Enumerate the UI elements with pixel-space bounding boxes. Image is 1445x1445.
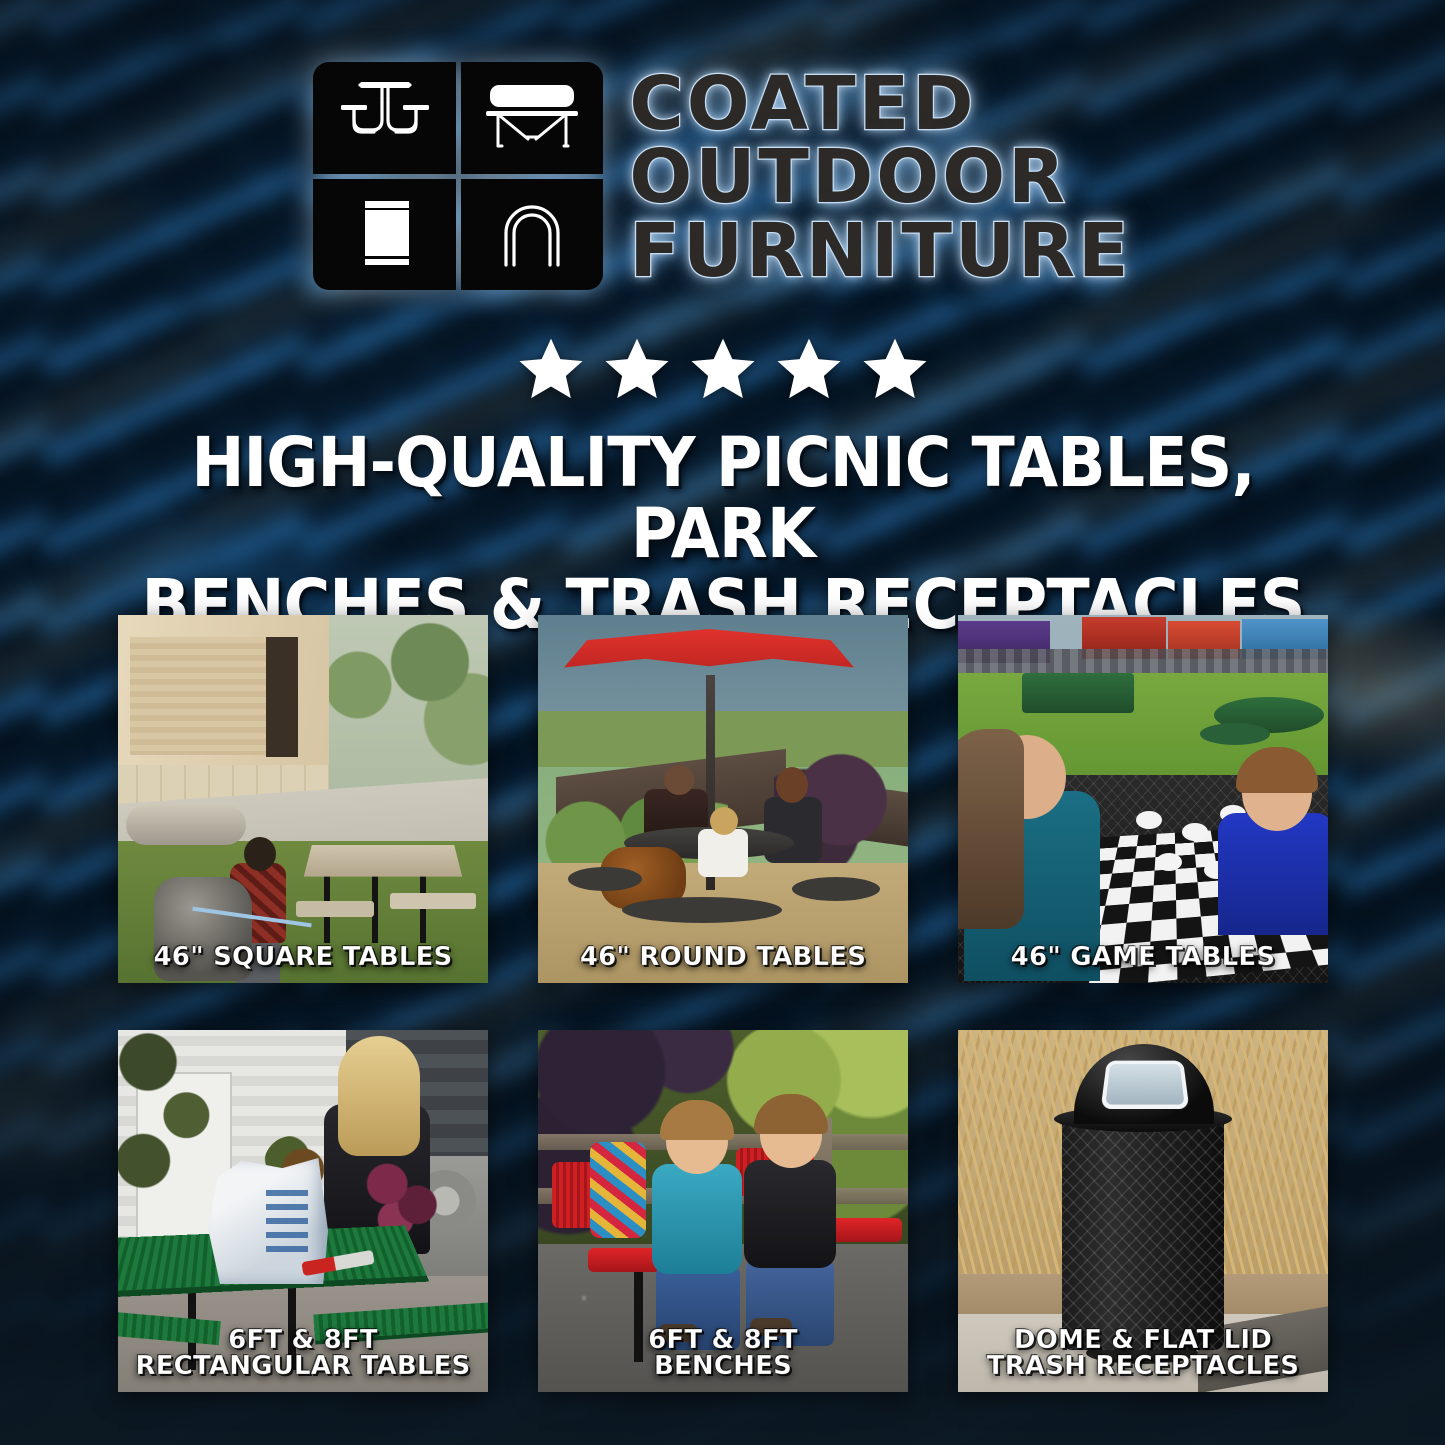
star-icon [773,334,845,404]
caption-line-1: 6FT & 8FT [124,1327,482,1354]
dome-lid-icon [461,179,604,291]
caption-line-2: RECTANGULAR TABLES [124,1353,482,1380]
brand-name-line-3: FURNITURE [629,216,1131,287]
product-tile-trash-receptacles[interactable]: DOME & FLAT LID TRASH RECEPTACLES [958,1030,1328,1392]
brand-wordmark: COATED OUTDOOR FURNITURE [629,65,1131,286]
product-photo-round-tables [538,615,908,983]
product-photo-square-tables [118,615,488,983]
caption-line-1: 6FT & 8FT [544,1327,902,1354]
product-tile-rectangular-tables[interactable]: 6FT & 8FT RECTANGULAR TABLES [118,1030,488,1392]
caption-line-1: 46" GAME TABLES [964,944,1322,971]
star-icon [601,334,673,404]
headline-line-1: HIGH-QUALITY PICNIC TABLES, PARK [129,428,1316,570]
product-tile-benches[interactable]: 6FT & 8FT BENCHES [538,1030,908,1392]
product-caption-round-tables: 46" ROUND TABLES [538,944,908,971]
product-caption-game-tables: 46" GAME TABLES [958,944,1328,971]
headline: HIGH-QUALITY PICNIC TABLES, PARK BENCHES… [78,428,1368,641]
product-tile-round-tables[interactable]: 46" ROUND TABLES [538,615,908,983]
product-photo-game-tables [958,615,1328,983]
logo-icon-grid [313,62,603,290]
product-grid: 46" SQUARE TABLES [118,615,1328,1392]
caption-line-1: DOME & FLAT LID [964,1327,1322,1354]
product-tile-square-tables[interactable]: 46" SQUARE TABLES [118,615,488,983]
caption-line-2: BENCHES [544,1353,902,1380]
star-icon [687,334,759,404]
star-icon [859,334,931,404]
caption-line-2: TRASH RECEPTACLES [964,1353,1322,1380]
bench-side-icon [461,62,604,174]
brand-logo: COATED OUTDOOR FURNITURE [0,62,1445,290]
trash-receptacle-icon [313,179,456,291]
star-rating [0,334,1445,404]
caption-line-1: 46" SQUARE TABLES [124,944,482,971]
product-caption-rectangular-tables: 6FT & 8FT RECTANGULAR TABLES [118,1327,488,1380]
picnic-table-front-icon [313,62,456,174]
brand-name-line-1: COATED [629,69,1131,140]
product-caption-square-tables: 46" SQUARE TABLES [118,944,488,971]
brand-name-line-2: OUTDOOR [629,142,1131,213]
product-tile-game-tables[interactable]: 46" GAME TABLES [958,615,1328,983]
advertisement-poster: COATED OUTDOOR FURNITURE HIGH-QUALITY PI… [0,0,1445,1445]
product-caption-trash-receptacles: DOME & FLAT LID TRASH RECEPTACLES [958,1327,1328,1380]
star-icon [515,334,587,404]
caption-line-1: 46" ROUND TABLES [544,944,902,971]
product-caption-benches: 6FT & 8FT BENCHES [538,1327,908,1380]
